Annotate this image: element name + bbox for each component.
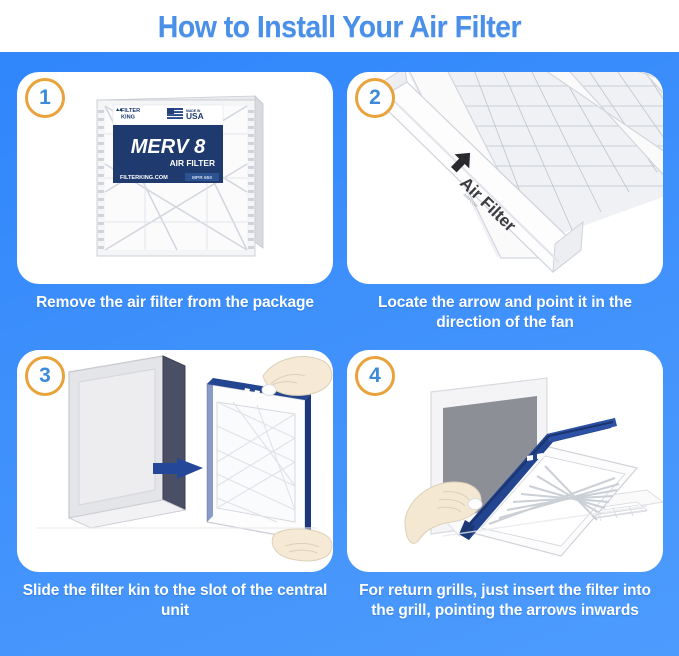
svg-text:KING: KING [121, 115, 135, 121]
step-1-badge: 1 [25, 78, 65, 118]
merv-label: MERV 8 [131, 136, 206, 158]
step-3: 3 [17, 350, 333, 622]
brand-label: FILTER [121, 108, 140, 114]
step-4-illustration [347, 350, 663, 572]
step-3-illustration [17, 350, 333, 572]
step-4-badge: 4 [355, 356, 395, 396]
country-label: USA [186, 111, 204, 121]
step-1: 1 [17, 72, 333, 313]
step-3-card: 3 [17, 350, 333, 572]
step-4: 4 [347, 350, 663, 622]
step-4-card: 4 [347, 350, 663, 572]
step-2-badge: 2 [355, 78, 395, 118]
rating-label: MPR 650 [192, 175, 212, 181]
step-1-card: 1 [17, 72, 333, 284]
step-2: 2 [347, 72, 663, 334]
step-3-badge: 3 [25, 356, 65, 396]
air-filter-label: AIR FILTER [170, 158, 215, 168]
step-2-caption: Locate the arrow and point it in the dir… [347, 293, 663, 334]
step-3-caption: Slide the filter kin to the slot of the … [17, 581, 333, 622]
step-4-caption: For return grills, just insert the filte… [347, 581, 663, 622]
step-1-caption: Remove the air filter from the package [17, 293, 333, 313]
step-2-illustration: Air Filter AIRFLOW [347, 72, 663, 284]
steps-grid: 1 [0, 52, 679, 656]
step-2-card: 2 [347, 72, 663, 284]
steps-board: 1 [0, 52, 679, 656]
infographic-page: How to Install Your Air Filter 1 [0, 0, 679, 656]
header: How to Install Your Air Filter [0, 0, 679, 52]
page-title: How to Install Your Air Filter [158, 11, 521, 42]
step-1-illustration: FILTER KING MADE IN USA [17, 72, 333, 284]
website-label: FILTERKING.COM [120, 175, 168, 181]
